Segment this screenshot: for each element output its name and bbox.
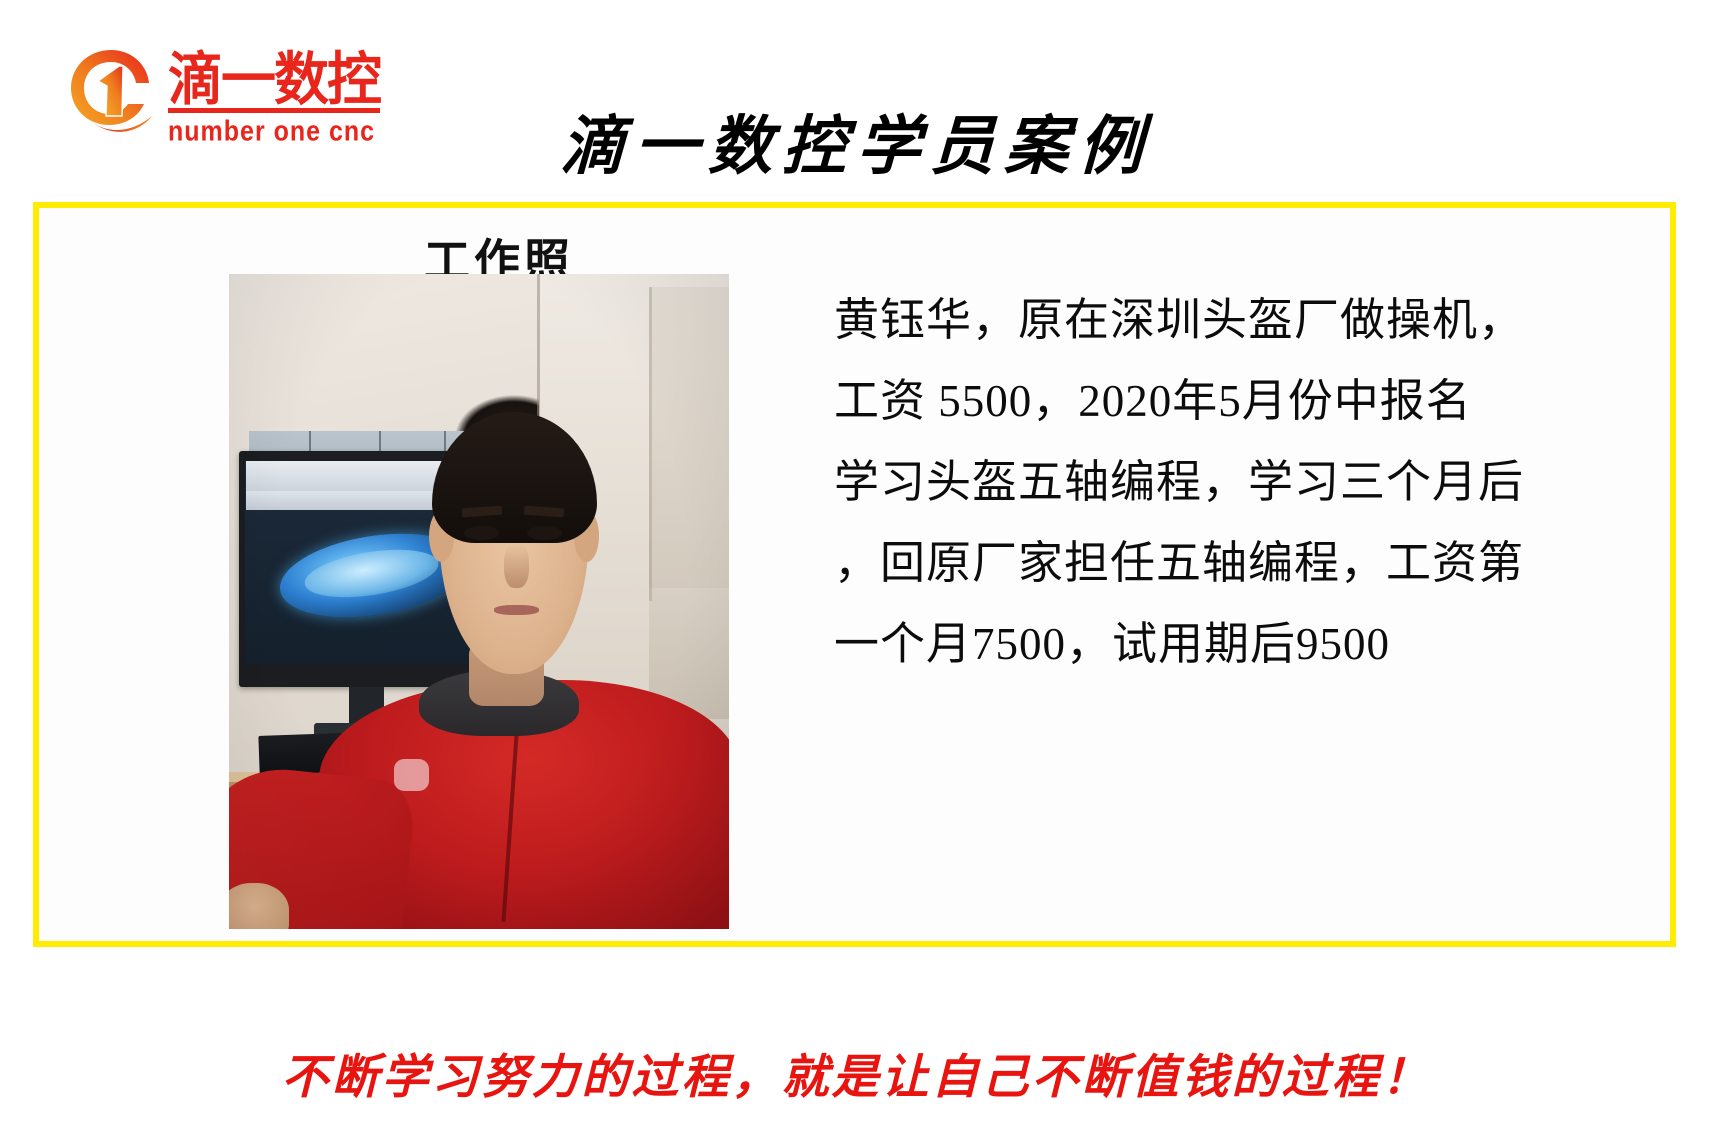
body-line: ，回原厂家担任五轴编程，工资第: [834, 523, 1594, 604]
body-line: 学习头盔五轴编程，学习三个月后: [834, 442, 1594, 523]
logo-chinese-name: 滴一数控: [168, 50, 380, 108]
body-line: 黄钰华，原在深圳头盔厂做操机，: [834, 280, 1594, 361]
case-study-body: 黄钰华，原在深圳头盔厂做操机， 工资 5500，2020年5月份中报名 学习头盔…: [834, 280, 1594, 685]
footer-slogan: 不断学习努力的过程，就是让自己不断值钱的过程！: [0, 1048, 1713, 1106]
photo-vignette: [229, 274, 729, 929]
page-header: 滴一数控 number one cnc 滴一数控学员案例: [0, 0, 1713, 200]
case-study-card: 工作照: [33, 202, 1676, 947]
body-line: 一个月7500，试用期后9500: [834, 604, 1594, 685]
student-work-photo: [229, 274, 729, 929]
body-line: 工资 5500，2020年5月份中报名: [834, 361, 1594, 442]
photo-image: [229, 274, 729, 929]
page-title: 滴一数控学员案例: [0, 108, 1713, 186]
